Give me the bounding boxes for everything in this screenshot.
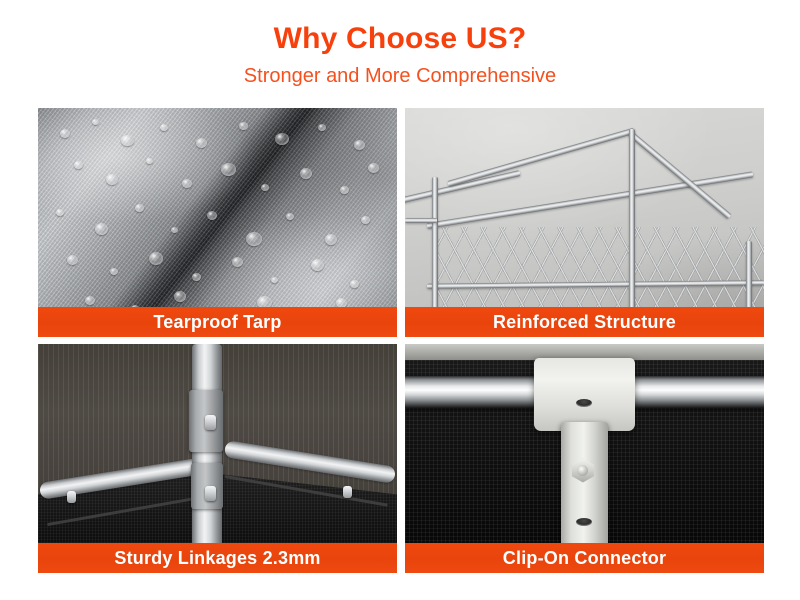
header: Why Choose US? Stronger and More Compreh… [0, 0, 800, 87]
center-vertical-post [192, 344, 222, 573]
feature-label: Sturdy Linkages 2.3mm [114, 549, 320, 567]
feature-banner: Clip-On Connector [405, 543, 764, 573]
tarp-bolt-left [67, 491, 76, 503]
center-post [629, 129, 635, 317]
connector-head [534, 358, 635, 431]
water-droplets [38, 108, 397, 337]
feature-label: Reinforced Structure [493, 313, 676, 331]
feature-grid: Tearproof Tarp [38, 108, 764, 573]
page-title: Why Choose US? [0, 22, 800, 55]
why-choose-us-infographic: Why Choose US? Stronger and More Compreh… [0, 0, 800, 600]
left-corner-post [432, 177, 438, 319]
joint-bolt-lower [205, 486, 216, 501]
feature-card-sturdy-linkages[interactable]: Sturdy Linkages 2.3mm [38, 344, 397, 573]
feature-card-tearproof-tarp[interactable]: Tearproof Tarp [38, 108, 397, 337]
tarp-bolt-right [343, 486, 352, 498]
connector-photo [405, 344, 764, 573]
feature-banner: Sturdy Linkages 2.3mm [38, 543, 397, 573]
lower-dimple [576, 518, 592, 526]
feature-banner: Reinforced Structure [405, 307, 764, 337]
tarp-photo [38, 108, 397, 337]
upper-dimple [576, 399, 592, 407]
joint-bolt-upper [205, 415, 216, 430]
feature-card-clip-on-connector[interactable]: Clip-On Connector [405, 344, 764, 573]
feature-label: Tearproof Tarp [153, 313, 281, 331]
feature-banner: Tearproof Tarp [38, 307, 397, 337]
linkage-photo [38, 344, 397, 573]
feature-card-reinforced-structure[interactable]: Reinforced Structure [405, 108, 764, 337]
left-stub-rail [405, 218, 437, 223]
feature-label: Clip-On Connector [503, 549, 666, 567]
page-subtitle: Stronger and More Comprehensive [0, 65, 800, 87]
structure-photo [405, 108, 764, 337]
